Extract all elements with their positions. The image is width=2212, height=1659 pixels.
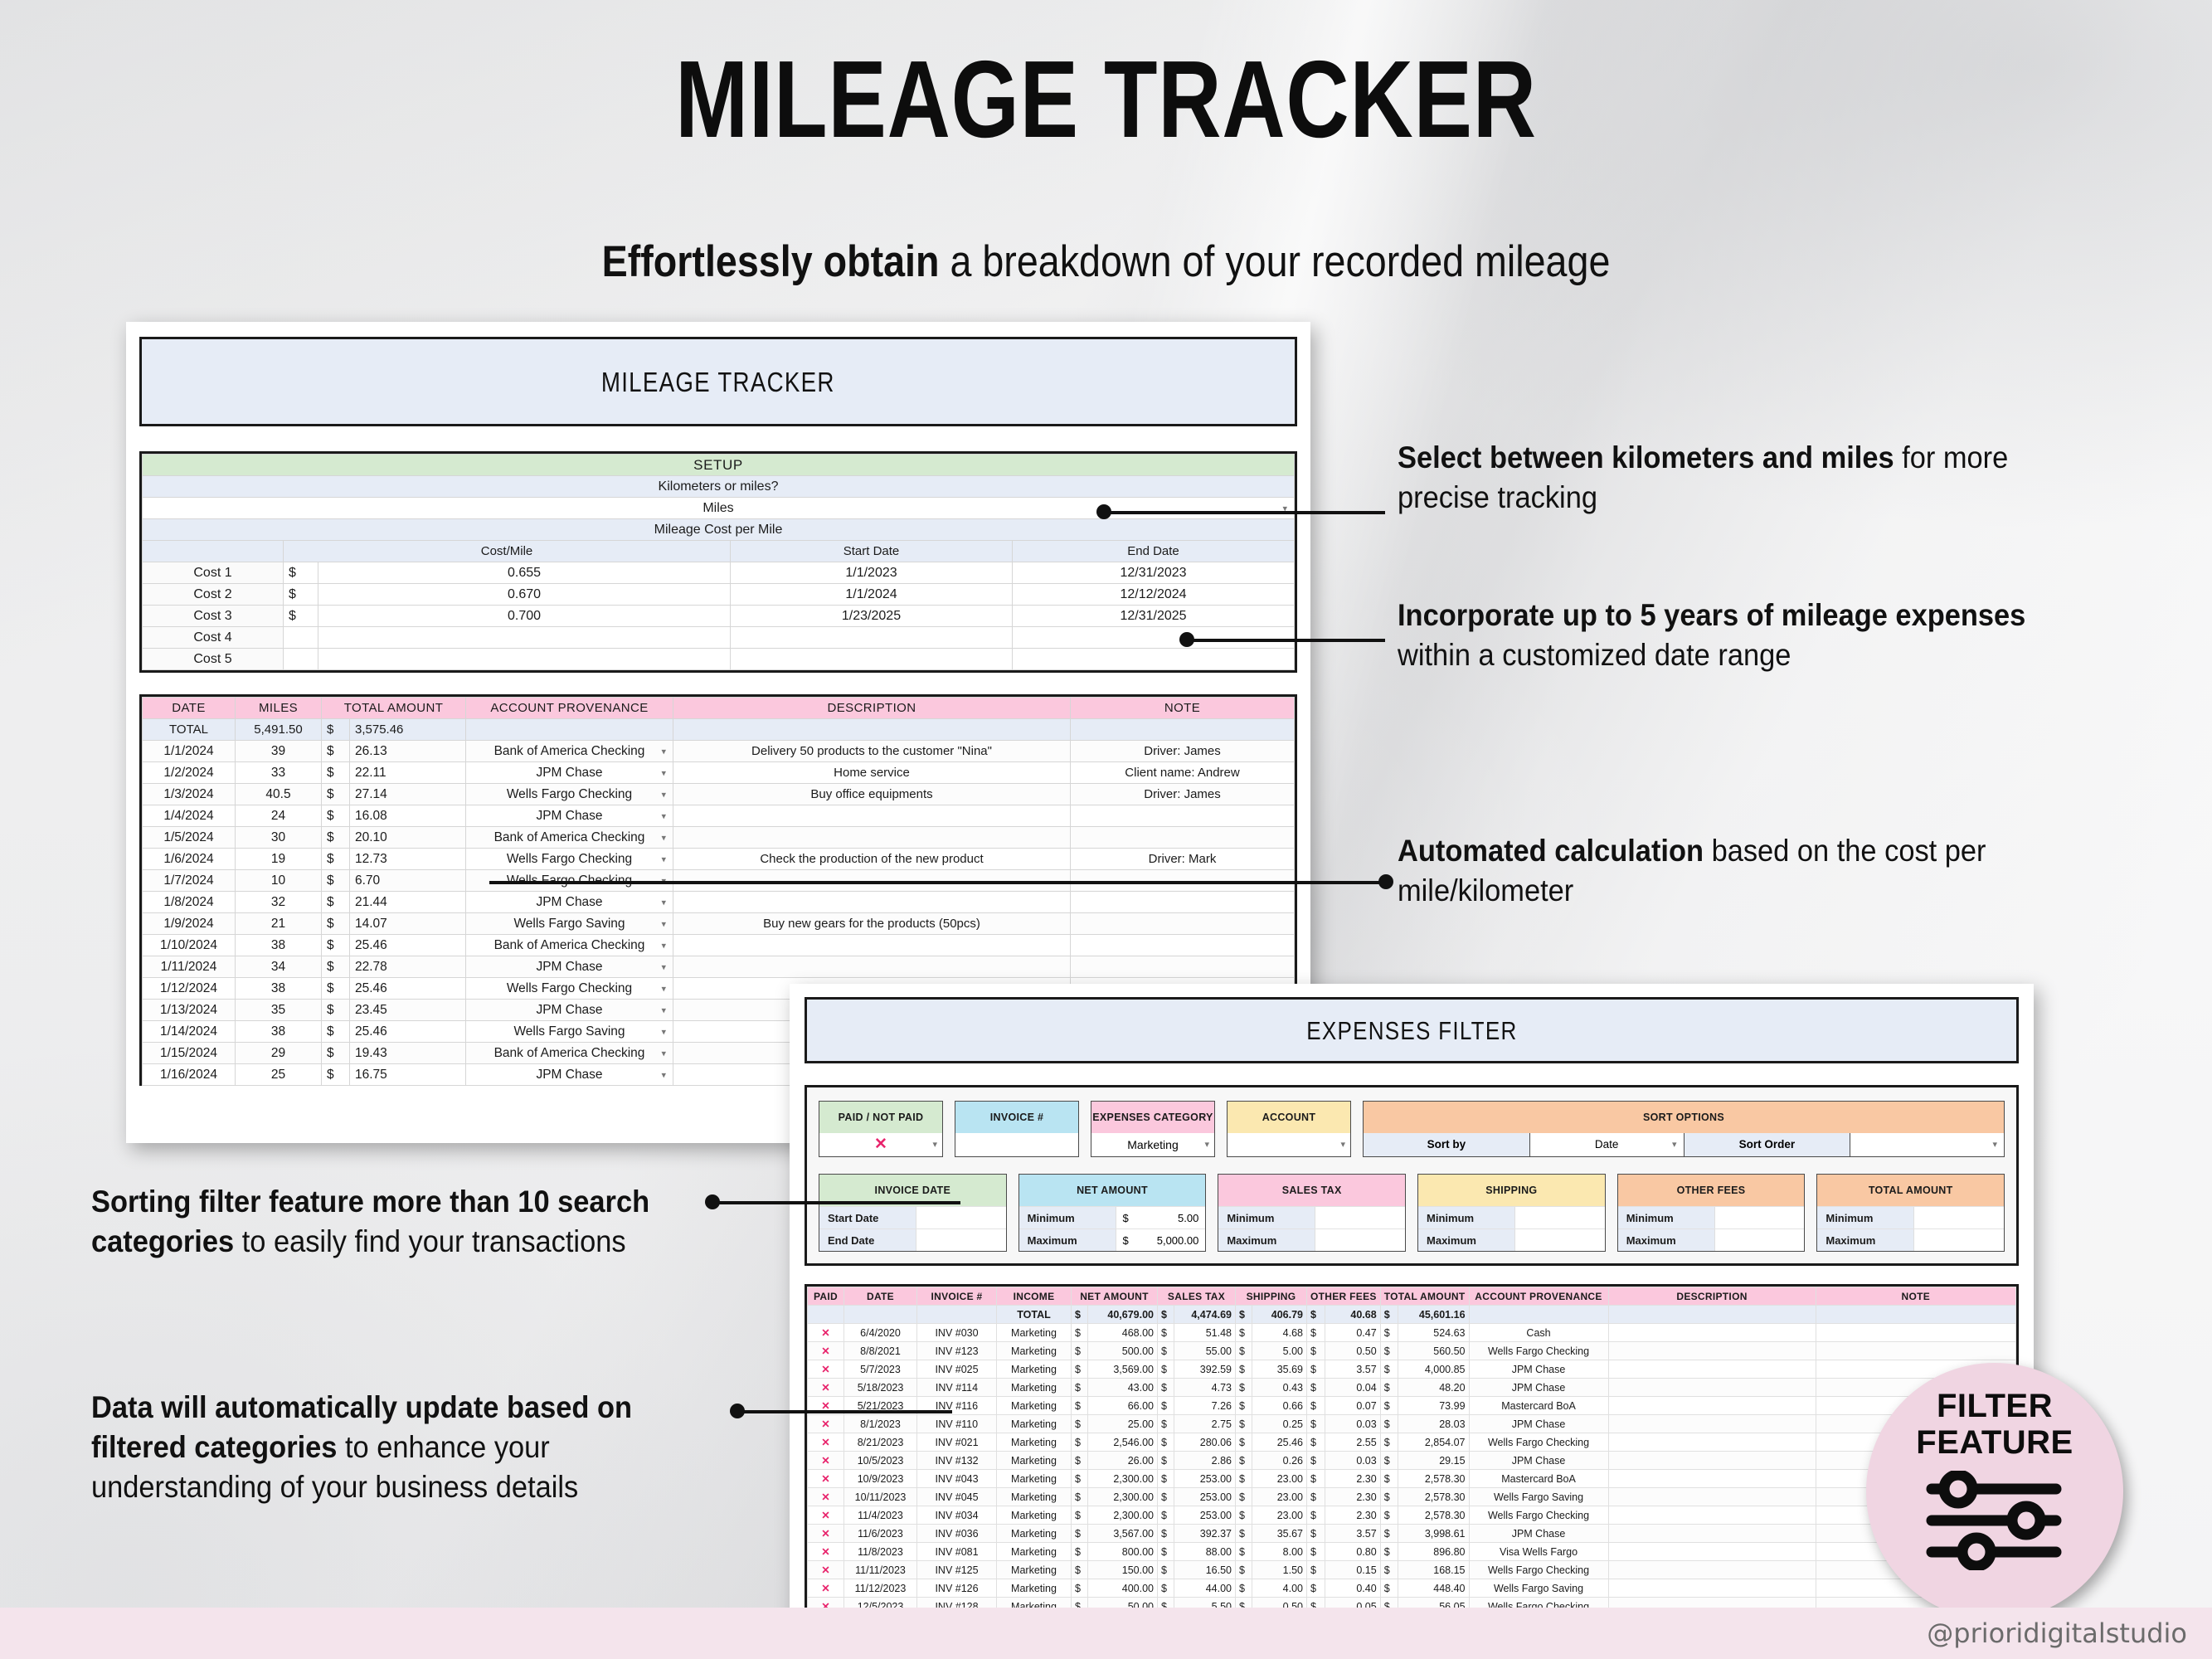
cell-date[interactable]: 1/2/2024 bbox=[143, 762, 236, 784]
table-row[interactable]: ✕5/7/2023INV #025Marketing$3,569.00$392.… bbox=[808, 1360, 2016, 1379]
cell-sales-tax[interactable]: 280.06 bbox=[1174, 1433, 1236, 1452]
chevron-down-icon[interactable]: ▾ bbox=[661, 810, 666, 821]
cell-paid[interactable]: ✕ bbox=[808, 1506, 844, 1525]
cell-date[interactable]: 11/8/2023 bbox=[844, 1543, 917, 1561]
cell-other-fees[interactable]: 0.80 bbox=[1325, 1543, 1381, 1561]
filter-range-row[interactable]: Maximum bbox=[1418, 1228, 1605, 1251]
table-row[interactable]: ✕8/8/2021INV #123Marketing$500.00$55.00$… bbox=[808, 1342, 2016, 1360]
range-value[interactable] bbox=[1515, 1207, 1605, 1228]
cell-income[interactable]: Marketing bbox=[997, 1525, 1072, 1543]
range-value[interactable]: $5.00 bbox=[1116, 1207, 1206, 1228]
cell-description[interactable] bbox=[1608, 1525, 1816, 1543]
table-row[interactable]: ✕8/1/2023INV #110Marketing$25.00$2.75$0.… bbox=[808, 1415, 2016, 1433]
cell-account-provenance[interactable]: Wells Fargo Checking bbox=[1469, 1342, 1608, 1360]
filter-row-ranges[interactable]: INVOICE DATEStart DateEnd DateNET AMOUNT… bbox=[819, 1174, 2005, 1252]
cell-total-amount[interactable]: 4,000.85 bbox=[1398, 1360, 1469, 1379]
cell-sales-tax[interactable]: 2.75 bbox=[1174, 1415, 1236, 1433]
cell-invoice[interactable]: INV #126 bbox=[917, 1579, 997, 1598]
cell-net-amount[interactable]: 43.00 bbox=[1088, 1379, 1158, 1397]
filter-range-row[interactable]: Maximum$5,000.00 bbox=[1019, 1228, 1206, 1251]
sort-by-value[interactable]: Date▾ bbox=[1530, 1133, 1685, 1156]
cell-total-amount[interactable]: 29.15 bbox=[1398, 1452, 1469, 1470]
unit-select[interactable]: Miles ▾ bbox=[143, 498, 1295, 519]
cell-account-provenance[interactable]: Wells Fargo Checking▾ bbox=[466, 978, 673, 1000]
table-row[interactable]: ✕10/5/2023INV #132Marketing$26.00$2.86$0… bbox=[808, 1452, 2016, 1470]
filter-box-paid-not-paid[interactable]: PAID / NOT PAID✕▾ bbox=[819, 1101, 943, 1157]
cell-account-provenance[interactable]: JPM Chase bbox=[1469, 1360, 1608, 1379]
cell-account-provenance[interactable]: JPM Chase bbox=[1469, 1525, 1608, 1543]
filter-range-row[interactable]: Maximum bbox=[1618, 1228, 1805, 1251]
range-value[interactable]: $5,000.00 bbox=[1116, 1229, 1206, 1251]
cell-account-provenance[interactable]: JPM Chase▾ bbox=[466, 1064, 673, 1086]
cell-paid[interactable]: ✕ bbox=[808, 1543, 844, 1561]
cell-miles[interactable]: 38 bbox=[236, 1021, 322, 1043]
cell-income[interactable]: Marketing bbox=[997, 1342, 1072, 1360]
cell-miles[interactable]: 38 bbox=[236, 935, 322, 956]
table-row[interactable]: ✕8/21/2023INV #021Marketing$2,546.00$280… bbox=[808, 1433, 2016, 1452]
cell-date[interactable]: 8/21/2023 bbox=[844, 1433, 917, 1452]
cell-invoice[interactable]: INV #034 bbox=[917, 1506, 997, 1525]
cell-shipping[interactable]: 35.67 bbox=[1252, 1525, 1307, 1543]
table-row[interactable]: 1/1/202439$26.13Bank of America Checking… bbox=[143, 741, 1295, 762]
cell-paid[interactable]: ✕ bbox=[808, 1488, 844, 1506]
table-row[interactable]: 1/10/202438$25.46Bank of America Checkin… bbox=[143, 935, 1295, 956]
cell-total-amount[interactable]: 73.99 bbox=[1398, 1397, 1469, 1415]
table-row[interactable]: 1/9/202421$14.07Wells Fargo Saving▾Buy n… bbox=[143, 913, 1295, 935]
table-row[interactable]: 1/11/202434$22.78JPM Chase▾ bbox=[143, 956, 1295, 978]
cell-date[interactable]: 11/6/2023 bbox=[844, 1525, 917, 1543]
cell-sales-tax[interactable]: 253.00 bbox=[1174, 1470, 1236, 1488]
cell-account-provenance[interactable]: Bank of America Checking▾ bbox=[466, 1043, 673, 1064]
chevron-down-icon[interactable]: ▾ bbox=[1672, 1133, 1677, 1156]
cell-net-amount[interactable]: 150.00 bbox=[1088, 1561, 1158, 1579]
cell-date[interactable]: 1/9/2024 bbox=[143, 913, 236, 935]
cell-date[interactable]: 1/13/2024 bbox=[143, 1000, 236, 1021]
cell-account-provenance[interactable]: Bank of America Checking▾ bbox=[466, 935, 673, 956]
cell-income[interactable]: Marketing bbox=[997, 1452, 1072, 1470]
cell-date[interactable]: 1/6/2024 bbox=[143, 849, 236, 870]
cell-other-fees[interactable]: 0.07 bbox=[1325, 1397, 1381, 1415]
cell-note[interactable]: Client name: Andrew bbox=[1071, 762, 1295, 784]
chevron-down-icon[interactable]: ▾ bbox=[661, 1026, 666, 1037]
cell-note[interactable]: Driver: James bbox=[1071, 784, 1295, 805]
cell-invoice[interactable]: INV #123 bbox=[917, 1342, 997, 1360]
chevron-down-icon[interactable]: ▾ bbox=[661, 767, 666, 778]
range-value[interactable] bbox=[1315, 1229, 1405, 1251]
chevron-down-icon[interactable]: ▾ bbox=[1992, 1133, 1997, 1156]
filter-box-expenses-category[interactable]: EXPENSES CATEGORYMarketing▾ bbox=[1091, 1101, 1215, 1157]
cell-invoice[interactable]: INV #125 bbox=[917, 1561, 997, 1579]
cell-miles[interactable]: 10 bbox=[236, 870, 322, 892]
cell-date[interactable]: 1/3/2024 bbox=[143, 784, 236, 805]
range-value[interactable] bbox=[916, 1207, 1006, 1228]
table-row[interactable]: ✕5/18/2023INV #114Marketing$43.00$4.73$0… bbox=[808, 1379, 2016, 1397]
cell-total-amount[interactable]: 2,578.30 bbox=[1398, 1488, 1469, 1506]
cell-income[interactable]: Marketing bbox=[997, 1543, 1072, 1561]
cell-income[interactable]: Marketing bbox=[997, 1561, 1072, 1579]
cell-account-provenance[interactable]: Wells Fargo Saving▾ bbox=[466, 1021, 673, 1043]
cell-sales-tax[interactable]: 392.59 bbox=[1174, 1360, 1236, 1379]
cell-account-provenance[interactable]: Cash bbox=[1469, 1324, 1608, 1342]
cell-shipping[interactable]: 5.00 bbox=[1252, 1342, 1307, 1360]
cell-invoice[interactable]: INV #036 bbox=[917, 1525, 997, 1543]
filter-value[interactable]: Marketing▾ bbox=[1091, 1133, 1214, 1156]
cell-paid[interactable]: ✕ bbox=[808, 1360, 844, 1379]
cell-date[interactable]: 1/16/2024 bbox=[143, 1064, 236, 1086]
table-row[interactable]: ✕11/4/2023INV #034Marketing$2,300.00$253… bbox=[808, 1506, 2016, 1525]
cell-other-fees[interactable]: 0.50 bbox=[1325, 1342, 1381, 1360]
cell-description[interactable] bbox=[1608, 1415, 1816, 1433]
cell-account-provenance[interactable]: Wells Fargo Checking bbox=[1469, 1433, 1608, 1452]
filter-range-row[interactable]: Minimum bbox=[1218, 1206, 1405, 1228]
chevron-down-icon[interactable]: ▾ bbox=[1340, 1133, 1345, 1156]
unit-select-row[interactable]: Miles ▾ bbox=[143, 498, 1295, 519]
cell-shipping[interactable]: 4.00 bbox=[1252, 1579, 1307, 1598]
cell-paid[interactable]: ✕ bbox=[808, 1452, 844, 1470]
cell-other-fees[interactable]: 0.03 bbox=[1325, 1415, 1381, 1433]
range-value[interactable] bbox=[1914, 1207, 2004, 1228]
cell-account-provenance[interactable]: JPM Chase▾ bbox=[466, 1000, 673, 1021]
filter-range-row[interactable]: Minimum bbox=[1618, 1206, 1805, 1228]
table-row[interactable]: ✕5/21/2023INV #116Marketing$66.00$7.26$0… bbox=[808, 1397, 2016, 1415]
table-row[interactable]: 1/5/202430$20.10Bank of America Checking… bbox=[143, 827, 1295, 849]
cell-date[interactable]: 1/11/2024 bbox=[143, 956, 236, 978]
cell-date[interactable]: 1/10/2024 bbox=[143, 935, 236, 956]
cell-miles[interactable]: 33 bbox=[236, 762, 322, 784]
cell-account-provenance[interactable]: Wells Fargo Checking▾ bbox=[466, 784, 673, 805]
cell-description[interactable]: Home service bbox=[673, 762, 1071, 784]
cell-miles[interactable]: 40.5 bbox=[236, 784, 322, 805]
filter-value[interactable]: ▾ bbox=[1228, 1133, 1350, 1156]
cell-invoice[interactable]: INV #081 bbox=[917, 1543, 997, 1561]
filter-box-sales-tax[interactable]: SALES TAXMinimumMaximum bbox=[1218, 1174, 1406, 1252]
cell-income[interactable]: Marketing bbox=[997, 1506, 1072, 1525]
table-row[interactable]: 1/4/202424$16.08JPM Chase▾ bbox=[143, 805, 1295, 827]
cell-date[interactable]: 5/7/2023 bbox=[844, 1360, 917, 1379]
setup-row-rate[interactable]: 0.700 bbox=[318, 606, 731, 627]
sort-order-value[interactable]: ▾ bbox=[1850, 1133, 2004, 1156]
cell-note[interactable] bbox=[1071, 827, 1295, 849]
cell-description[interactable]: Buy office equipments bbox=[673, 784, 1071, 805]
cell-income[interactable]: Marketing bbox=[997, 1379, 1072, 1397]
table-row[interactable]: ✕11/6/2023INV #036Marketing$3,567.00$392… bbox=[808, 1525, 2016, 1543]
cell-sales-tax[interactable]: 55.00 bbox=[1174, 1342, 1236, 1360]
cell-income[interactable]: Marketing bbox=[997, 1433, 1072, 1452]
cell-other-fees[interactable]: 0.04 bbox=[1325, 1379, 1381, 1397]
chevron-down-icon[interactable]: ▾ bbox=[661, 983, 666, 994]
cell-date[interactable]: 10/9/2023 bbox=[844, 1470, 917, 1488]
chevron-down-icon[interactable]: ▾ bbox=[661, 1069, 666, 1080]
cell-total-amount[interactable]: 168.15 bbox=[1398, 1561, 1469, 1579]
cell-net-amount[interactable]: 400.00 bbox=[1088, 1579, 1158, 1598]
cell-invoice[interactable]: INV #045 bbox=[917, 1488, 997, 1506]
setup-row-rate[interactable] bbox=[318, 627, 731, 649]
chevron-down-icon[interactable]: ▾ bbox=[1204, 1133, 1209, 1156]
table-row[interactable]: ✕11/11/2023INV #125Marketing$150.00$16.5… bbox=[808, 1561, 2016, 1579]
cell-note[interactable]: Driver: Mark bbox=[1071, 849, 1295, 870]
cell-note[interactable] bbox=[1816, 1324, 2015, 1342]
cell-income[interactable]: Marketing bbox=[997, 1488, 1072, 1506]
cell-other-fees[interactable]: 0.15 bbox=[1325, 1561, 1381, 1579]
setup-row-rate[interactable]: 0.655 bbox=[318, 562, 731, 584]
cell-net-amount[interactable]: 66.00 bbox=[1088, 1397, 1158, 1415]
setup-row[interactable]: Cost 4 bbox=[143, 627, 1295, 649]
cell-account-provenance[interactable]: Bank of America Checking▾ bbox=[466, 827, 673, 849]
setup-row-end-date[interactable] bbox=[1013, 649, 1295, 670]
cell-description[interactable] bbox=[1608, 1506, 1816, 1525]
cell-sales-tax[interactable]: 4.73 bbox=[1174, 1379, 1236, 1397]
cell-total-amount[interactable]: 28.03 bbox=[1398, 1415, 1469, 1433]
table-row[interactable]: ✕10/9/2023INV #043Marketing$2,300.00$253… bbox=[808, 1470, 2016, 1488]
cell-note[interactable] bbox=[1816, 1342, 2015, 1360]
cell-net-amount[interactable]: 3,569.00 bbox=[1088, 1360, 1158, 1379]
cell-income[interactable]: Marketing bbox=[997, 1360, 1072, 1379]
cell-shipping[interactable]: 8.00 bbox=[1252, 1543, 1307, 1561]
cell-invoice[interactable]: INV #114 bbox=[917, 1379, 997, 1397]
cell-account-provenance[interactable]: JPM Chase▾ bbox=[466, 805, 673, 827]
filter-range-row[interactable]: Maximum bbox=[1817, 1228, 2004, 1251]
cell-description[interactable] bbox=[1608, 1397, 1816, 1415]
cell-income[interactable]: Marketing bbox=[997, 1415, 1072, 1433]
cell-description[interactable]: Buy new gears for the products (50pcs) bbox=[673, 913, 1071, 935]
table-row[interactable]: 1/8/202432$21.44JPM Chase▾ bbox=[143, 892, 1295, 913]
cell-date[interactable]: 11/11/2023 bbox=[844, 1561, 917, 1579]
cell-other-fees[interactable]: 0.03 bbox=[1325, 1452, 1381, 1470]
cell-date[interactable]: 1/4/2024 bbox=[143, 805, 236, 827]
cell-paid[interactable]: ✕ bbox=[808, 1415, 844, 1433]
cell-note[interactable] bbox=[1071, 956, 1295, 978]
setup-row-start-date[interactable] bbox=[731, 649, 1013, 670]
cell-net-amount[interactable]: 2,546.00 bbox=[1088, 1433, 1158, 1452]
table-row[interactable]: 1/6/202419$12.73Wells Fargo Checking▾Che… bbox=[143, 849, 1295, 870]
cell-miles[interactable]: 30 bbox=[236, 827, 322, 849]
cell-shipping[interactable]: 25.46 bbox=[1252, 1433, 1307, 1452]
cell-shipping[interactable]: 35.69 bbox=[1252, 1360, 1307, 1379]
cell-date[interactable]: 10/5/2023 bbox=[844, 1452, 917, 1470]
chevron-down-icon[interactable]: ▾ bbox=[661, 854, 666, 864]
range-value[interactable] bbox=[1715, 1207, 1805, 1228]
setup-row-start-date[interactable]: 1/1/2023 bbox=[731, 562, 1013, 584]
cell-sales-tax[interactable]: 44.00 bbox=[1174, 1579, 1236, 1598]
cell-miles[interactable]: 38 bbox=[236, 978, 322, 1000]
cell-shipping[interactable]: 4.68 bbox=[1252, 1324, 1307, 1342]
cell-date[interactable]: 1/12/2024 bbox=[143, 978, 236, 1000]
setup-row-end-date[interactable]: 12/12/2024 bbox=[1013, 584, 1295, 606]
cell-shipping[interactable]: 23.00 bbox=[1252, 1488, 1307, 1506]
cell-total-amount[interactable]: 48.20 bbox=[1398, 1379, 1469, 1397]
cell-date[interactable]: 1/8/2024 bbox=[143, 892, 236, 913]
cell-total-amount[interactable]: 2,854.07 bbox=[1398, 1433, 1469, 1452]
setup-row-rate[interactable]: 0.670 bbox=[318, 584, 731, 606]
setup-row-start-date[interactable]: 1/23/2025 bbox=[731, 606, 1013, 627]
cell-description[interactable] bbox=[1608, 1543, 1816, 1561]
cell-paid[interactable]: ✕ bbox=[808, 1579, 844, 1598]
cell-description[interactable] bbox=[673, 956, 1071, 978]
cell-miles[interactable]: 19 bbox=[236, 849, 322, 870]
cell-income[interactable]: Marketing bbox=[997, 1470, 1072, 1488]
cell-net-amount[interactable]: 3,567.00 bbox=[1088, 1525, 1158, 1543]
filter-box-account-provenance[interactable]: ACCOUNT PROVENANCE▾ bbox=[1227, 1101, 1351, 1157]
cell-net-amount[interactable]: 2,300.00 bbox=[1088, 1488, 1158, 1506]
cell-note[interactable]: Driver: James bbox=[1071, 741, 1295, 762]
cell-date[interactable]: 1/15/2024 bbox=[143, 1043, 236, 1064]
range-value[interactable] bbox=[1914, 1229, 2004, 1251]
setup-row[interactable]: Cost 5 bbox=[143, 649, 1295, 670]
cell-account-provenance[interactable]: Wells Fargo Saving▾ bbox=[466, 913, 673, 935]
cell-total-amount[interactable]: 2,578.30 bbox=[1398, 1470, 1469, 1488]
setup-row[interactable]: Cost 1$0.6551/1/202312/31/2023 bbox=[143, 562, 1295, 584]
cell-paid[interactable]: ✕ bbox=[808, 1561, 844, 1579]
cell-sales-tax[interactable]: 392.37 bbox=[1174, 1525, 1236, 1543]
cell-miles[interactable]: 35 bbox=[236, 1000, 322, 1021]
chevron-down-icon[interactable]: ▾ bbox=[661, 1048, 666, 1058]
chevron-down-icon[interactable]: ▾ bbox=[661, 918, 666, 929]
cell-shipping[interactable]: 23.00 bbox=[1252, 1506, 1307, 1525]
cell-shipping[interactable]: 0.43 bbox=[1252, 1379, 1307, 1397]
cell-income[interactable]: Marketing bbox=[997, 1324, 1072, 1342]
chevron-down-icon[interactable]: ▾ bbox=[661, 746, 666, 757]
filter-row-primary[interactable]: PAID / NOT PAID✕▾INVOICE #EXPENSES CATEG… bbox=[819, 1101, 2005, 1157]
table-row[interactable]: 1/2/202433$22.11JPM Chase▾Home serviceCl… bbox=[143, 762, 1295, 784]
cell-date[interactable]: 11/4/2023 bbox=[844, 1506, 917, 1525]
filter-range-row[interactable]: Minimum bbox=[1418, 1206, 1605, 1228]
cell-net-amount[interactable]: 800.00 bbox=[1088, 1543, 1158, 1561]
cell-account-provenance[interactable]: Wells Fargo Checking▾ bbox=[466, 849, 673, 870]
filter-box-total-amount[interactable]: TOTAL AMOUNTMinimumMaximum bbox=[1816, 1174, 2005, 1252]
setup-row-start-date[interactable] bbox=[731, 627, 1013, 649]
cell-other-fees[interactable]: 2.30 bbox=[1325, 1506, 1381, 1525]
cell-invoice[interactable]: INV #132 bbox=[917, 1452, 997, 1470]
filter-box-sort-options[interactable]: SORT OPTIONSSort byDate▾Sort Order▾ bbox=[1363, 1101, 2005, 1157]
setup-row-end-date[interactable]: 12/31/2025 bbox=[1013, 606, 1295, 627]
range-value[interactable] bbox=[1515, 1229, 1605, 1251]
filter-controls-panel[interactable]: PAID / NOT PAID✕▾INVOICE #EXPENSES CATEG… bbox=[805, 1085, 2019, 1266]
cell-account-provenance[interactable]: Wells Fargo Checking bbox=[1469, 1506, 1608, 1525]
cell-net-amount[interactable]: 26.00 bbox=[1088, 1452, 1158, 1470]
setup-row-end-date[interactable] bbox=[1013, 627, 1295, 649]
setup-row[interactable]: Cost 3$0.7001/23/202512/31/2025 bbox=[143, 606, 1295, 627]
filter-box-shipping[interactable]: SHIPPINGMinimumMaximum bbox=[1417, 1174, 1606, 1252]
filter-range-row[interactable]: End Date bbox=[819, 1228, 1006, 1251]
cell-description[interactable] bbox=[1608, 1324, 1816, 1342]
cell-income[interactable]: Marketing bbox=[997, 1397, 1072, 1415]
cell-miles[interactable]: 32 bbox=[236, 892, 322, 913]
cell-invoice[interactable]: INV #025 bbox=[917, 1360, 997, 1379]
cell-paid[interactable]: ✕ bbox=[808, 1342, 844, 1360]
cell-paid[interactable]: ✕ bbox=[808, 1470, 844, 1488]
chevron-down-icon[interactable]: ▾ bbox=[661, 897, 666, 907]
cell-invoice[interactable]: INV #030 bbox=[917, 1324, 997, 1342]
cell-date[interactable]: 8/1/2023 bbox=[844, 1415, 917, 1433]
table-row[interactable]: ✕10/11/2023INV #045Marketing$2,300.00$25… bbox=[808, 1488, 2016, 1506]
cell-description[interactable]: Check the production of the new product bbox=[673, 849, 1071, 870]
range-value[interactable] bbox=[1715, 1229, 1805, 1251]
cell-description[interactable] bbox=[673, 892, 1071, 913]
cell-description[interactable] bbox=[673, 827, 1071, 849]
filter-value[interactable] bbox=[955, 1133, 1078, 1156]
cell-net-amount[interactable]: 25.00 bbox=[1088, 1415, 1158, 1433]
setup-row-rate[interactable] bbox=[318, 649, 731, 670]
cell-total-amount[interactable]: 3,998.61 bbox=[1398, 1525, 1469, 1543]
cell-description[interactable] bbox=[1608, 1561, 1816, 1579]
cell-total-amount[interactable]: 448.40 bbox=[1398, 1579, 1469, 1598]
cell-shipping[interactable]: 0.26 bbox=[1252, 1452, 1307, 1470]
cell-description[interactable] bbox=[673, 935, 1071, 956]
filter-box-net-amount[interactable]: NET AMOUNTMinimum$5.00Maximum$5,000.00 bbox=[1018, 1174, 1207, 1252]
cell-account-provenance[interactable]: JPM Chase bbox=[1469, 1452, 1608, 1470]
chevron-down-icon[interactable]: ▾ bbox=[661, 832, 666, 843]
cell-note[interactable] bbox=[1071, 913, 1295, 935]
cell-paid[interactable]: ✕ bbox=[808, 1379, 844, 1397]
cell-description[interactable] bbox=[1608, 1470, 1816, 1488]
cell-account-provenance[interactable]: Wells Fargo Saving bbox=[1469, 1488, 1608, 1506]
cell-account-provenance[interactable]: JPM Chase bbox=[1469, 1415, 1608, 1433]
cell-shipping[interactable]: 1.50 bbox=[1252, 1561, 1307, 1579]
filter-range-row[interactable]: Minimum$5.00 bbox=[1019, 1206, 1206, 1228]
cell-description[interactable] bbox=[1608, 1379, 1816, 1397]
filter-box-invoice-number[interactable]: INVOICE # bbox=[955, 1101, 1079, 1157]
cell-total-amount[interactable]: 524.63 bbox=[1398, 1324, 1469, 1342]
cell-sales-tax[interactable]: 253.00 bbox=[1174, 1488, 1236, 1506]
cell-other-fees[interactable]: 2.55 bbox=[1325, 1433, 1381, 1452]
filter-value[interactable]: ✕▾ bbox=[819, 1133, 942, 1156]
cell-note[interactable] bbox=[1071, 805, 1295, 827]
filter-box-other-fees[interactable]: OTHER FEESMinimumMaximum bbox=[1617, 1174, 1806, 1252]
cell-date[interactable]: 11/12/2023 bbox=[844, 1579, 917, 1598]
cell-invoice[interactable]: INV #021 bbox=[917, 1433, 997, 1452]
cell-sales-tax[interactable]: 253.00 bbox=[1174, 1506, 1236, 1525]
cell-description[interactable] bbox=[1608, 1433, 1816, 1452]
cell-account-provenance[interactable]: JPM Chase▾ bbox=[466, 892, 673, 913]
cell-description[interactable] bbox=[1608, 1342, 1816, 1360]
cell-shipping[interactable]: 0.66 bbox=[1252, 1397, 1307, 1415]
cell-date[interactable]: 1/7/2024 bbox=[143, 870, 236, 892]
table-row[interactable]: 1/3/202440.5$27.14Wells Fargo Checking▾B… bbox=[143, 784, 1295, 805]
cell-other-fees[interactable]: 3.57 bbox=[1325, 1525, 1381, 1543]
cell-date[interactable]: 8/8/2021 bbox=[844, 1342, 917, 1360]
cell-invoice[interactable]: INV #043 bbox=[917, 1470, 997, 1488]
cell-account-provenance[interactable]: JPM Chase▾ bbox=[466, 956, 673, 978]
cell-account-provenance[interactable]: Bank of America Checking▾ bbox=[466, 741, 673, 762]
cell-shipping[interactable]: 23.00 bbox=[1252, 1470, 1307, 1488]
cell-miles[interactable]: 25 bbox=[236, 1064, 322, 1086]
cell-total-amount[interactable]: 560.50 bbox=[1398, 1342, 1469, 1360]
cell-net-amount[interactable]: 468.00 bbox=[1088, 1324, 1158, 1342]
cell-description[interactable]: Delivery 50 products to the customer "Ni… bbox=[673, 741, 1071, 762]
filter-box-invoice-date[interactable]: INVOICE DATEStart DateEnd Date bbox=[819, 1174, 1007, 1252]
cell-income[interactable]: Marketing bbox=[997, 1579, 1072, 1598]
cell-miles[interactable]: 39 bbox=[236, 741, 322, 762]
cell-account-provenance[interactable]: Wells Fargo Checking bbox=[1469, 1561, 1608, 1579]
cell-description[interactable] bbox=[1608, 1488, 1816, 1506]
cell-date[interactable]: 1/5/2024 bbox=[143, 827, 236, 849]
expenses-filter-sheet[interactable]: EXPENSES FILTER PAID / NOT PAID✕▾INVOICE… bbox=[790, 984, 2034, 1627]
cell-miles[interactable]: 29 bbox=[236, 1043, 322, 1064]
cell-note[interactable] bbox=[1071, 935, 1295, 956]
cell-description[interactable] bbox=[1608, 1452, 1816, 1470]
filter-range-row[interactable]: Start Date bbox=[819, 1206, 1006, 1228]
cell-sales-tax[interactable]: 51.48 bbox=[1174, 1324, 1236, 1342]
chevron-down-icon[interactable]: ▾ bbox=[661, 1005, 666, 1015]
cell-net-amount[interactable]: 2,300.00 bbox=[1088, 1470, 1158, 1488]
cell-sales-tax[interactable]: 88.00 bbox=[1174, 1543, 1236, 1561]
chevron-down-icon[interactable]: ▾ bbox=[661, 961, 666, 972]
chevron-down-icon[interactable]: ▾ bbox=[661, 940, 666, 951]
cell-account-provenance[interactable]: Mastercard BoA bbox=[1469, 1397, 1608, 1415]
setup-row-start-date[interactable]: 1/1/2024 bbox=[731, 584, 1013, 606]
range-value[interactable] bbox=[916, 1229, 1006, 1251]
filter-range-row[interactable]: Minimum bbox=[1817, 1206, 2004, 1228]
